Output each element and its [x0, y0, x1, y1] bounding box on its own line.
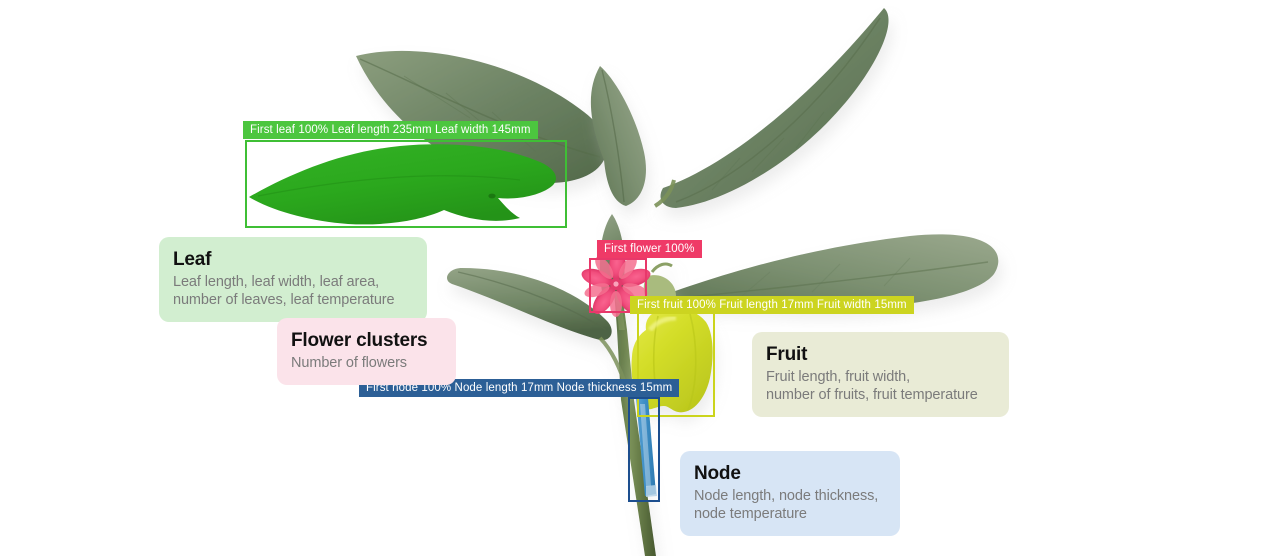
detection-label-leaf[interactable]: First leaf 100% Leaf length 235mm Leaf w…	[243, 121, 538, 139]
detection-box-node[interactable]	[628, 397, 660, 502]
legend-description-node: Node length, node thickness, node temper…	[694, 487, 886, 523]
annotation-canvas: First leaf 100% Leaf length 235mm Leaf w…	[0, 0, 1280, 556]
leaf-upper-right	[655, 8, 889, 208]
leaf-upper-middle	[591, 66, 646, 206]
legend-title-fruit: Fruit	[766, 343, 995, 366]
legend-description-flower-clusters: Number of flowers	[291, 354, 442, 372]
legend-card-leaf[interactable]: Leaf Leaf length, leaf width, leaf area,…	[159, 237, 427, 322]
legend-title-leaf: Leaf	[173, 248, 413, 271]
legend-card-flower-clusters[interactable]: Flower clusters Number of flowers	[277, 318, 456, 385]
legend-description-leaf: Leaf length, leaf width, leaf area, numb…	[173, 273, 413, 309]
detection-label-fruit[interactable]: First fruit 100% Fruit length 17mm Fruit…	[630, 296, 914, 314]
detection-label-flower[interactable]: First flower 100%	[597, 240, 702, 258]
legend-title-node: Node	[694, 462, 886, 485]
legend-card-node[interactable]: Node Node length, node thickness, node t…	[680, 451, 900, 536]
legend-card-fruit[interactable]: Fruit Fruit length, fruit width, number …	[752, 332, 1009, 417]
legend-title-flower-clusters: Flower clusters	[291, 329, 442, 352]
detection-box-leaf[interactable]	[245, 140, 567, 228]
legend-description-fruit: Fruit length, fruit width, number of fru…	[766, 368, 995, 404]
